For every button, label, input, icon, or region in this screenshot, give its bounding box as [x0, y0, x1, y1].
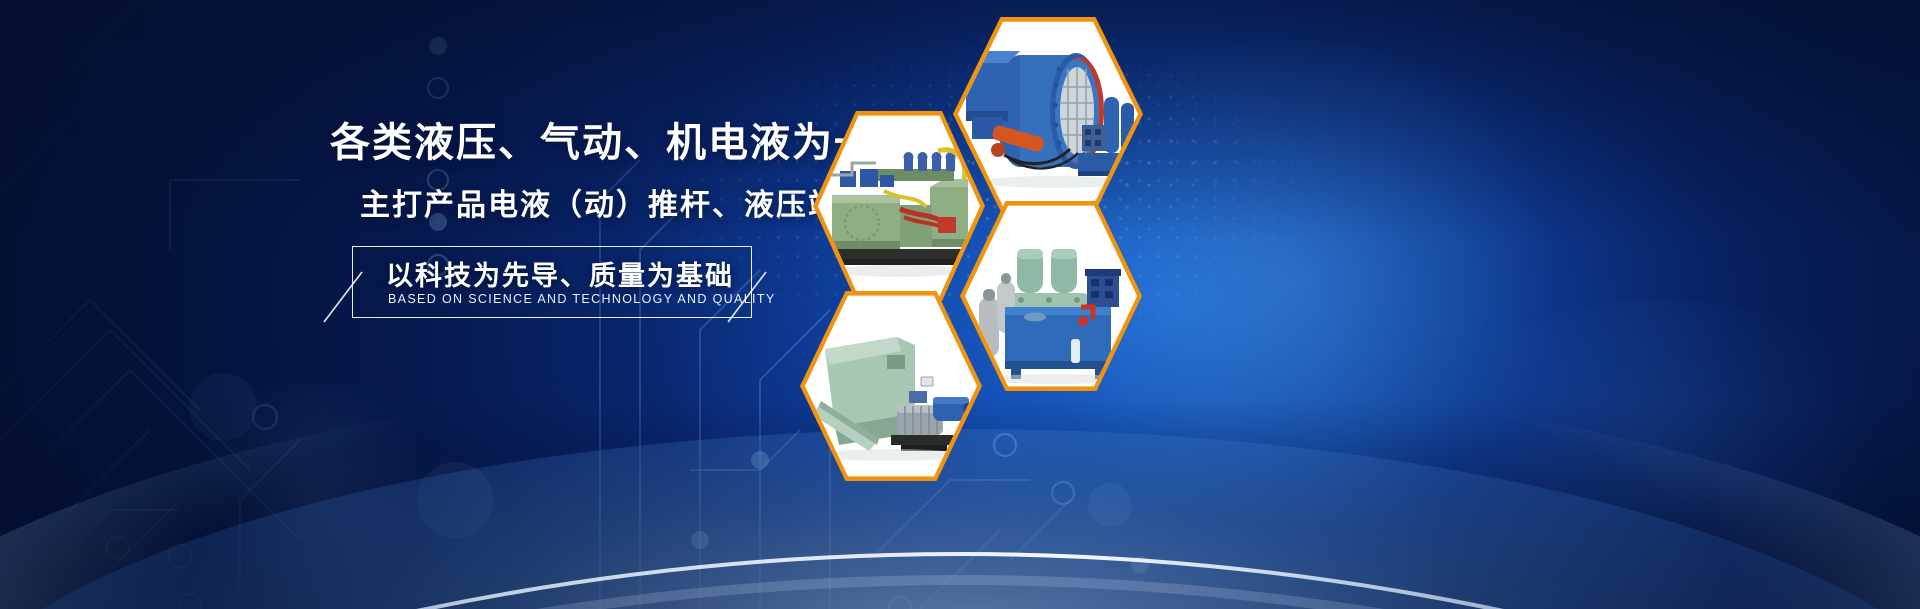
hero-banner: 各类液压、气动、机电液为一体 主打产品电液（动）推杆、液压站 以科技为先导、质量… — [0, 0, 1920, 609]
slash-right-icon — [726, 266, 770, 326]
slogan-english: BASED ON SCIENCE AND TECHNOLOGY AND QUAL… — [388, 292, 776, 306]
slogan-chinese: 以科技为先导、质量为基础 — [386, 254, 734, 293]
